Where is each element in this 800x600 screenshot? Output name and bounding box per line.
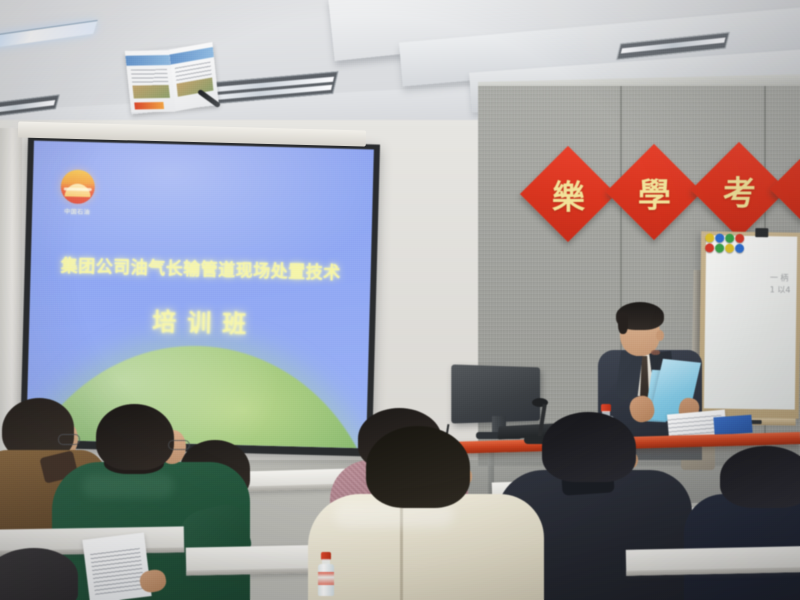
magnet-red-icon[interactable]	[735, 234, 744, 243]
attendee-hair	[366, 426, 470, 508]
booklet-blue-band	[125, 55, 170, 66]
magnet-yellow-icon[interactable]	[725, 244, 734, 253]
logo-caption: 中国石油	[54, 206, 100, 216]
magnet-red-icon[interactable]	[705, 243, 714, 252]
fluorescent-strip-light-icon	[0, 20, 98, 49]
attendee-foreground-left	[0, 548, 106, 600]
attendee-navy-suit	[690, 446, 800, 600]
magnet-blue-icon[interactable]	[715, 234, 724, 243]
bottle-label	[318, 572, 334, 585]
whiteboard-surface[interactable]: 一 柄 1 以4	[704, 235, 797, 409]
training-room-photograph: 中国石油 集团公司油气长输管道现场处置技术 培训班 樂 學 考 一 柄	[0, 0, 800, 600]
booklet-red-band	[134, 102, 164, 109]
magnet-blue-icon[interactable]	[735, 244, 744, 253]
presenter-ear	[656, 330, 664, 341]
attendee-cream-jacket	[326, 426, 526, 600]
placard-character: 考	[723, 166, 756, 214]
desk	[626, 546, 800, 576]
magnet-green-icon[interactable]	[725, 234, 734, 243]
sweater-highlight	[82, 474, 174, 498]
magnet-green-icon[interactable]	[715, 244, 724, 253]
slide-title: 集团公司油气长输管道现场处置技术	[30, 251, 371, 285]
placard-character: 學	[638, 168, 671, 216]
petrochina-logo: 中国石油	[54, 169, 101, 216]
attendee-hair	[96, 404, 174, 470]
whiteboard-handwriting: 一 柄 1 以4	[770, 272, 791, 296]
blue-folder	[713, 415, 752, 436]
binder-clip-icon	[755, 228, 768, 237]
slide-subtitle: 培训班	[29, 299, 370, 343]
magnet-group[interactable]	[705, 233, 744, 253]
placard-character: 樂	[552, 170, 585, 218]
whiteboard[interactable]: 一 柄 1 以4	[699, 231, 800, 418]
eyeglasses-icon	[168, 440, 190, 450]
presenter-mouth	[651, 350, 660, 355]
magnet-yellow-icon[interactable]	[705, 233, 714, 242]
attendee-hair	[542, 412, 636, 482]
petrochina-sun-logo-icon	[60, 169, 95, 204]
attendee-hair	[0, 548, 78, 600]
presenter-hair	[616, 302, 664, 330]
water-bottle	[318, 552, 334, 596]
attendee-hair	[720, 446, 800, 508]
open-booklet	[125, 44, 219, 115]
booklet-page-left	[125, 50, 176, 112]
booklet-photo	[133, 85, 170, 99]
